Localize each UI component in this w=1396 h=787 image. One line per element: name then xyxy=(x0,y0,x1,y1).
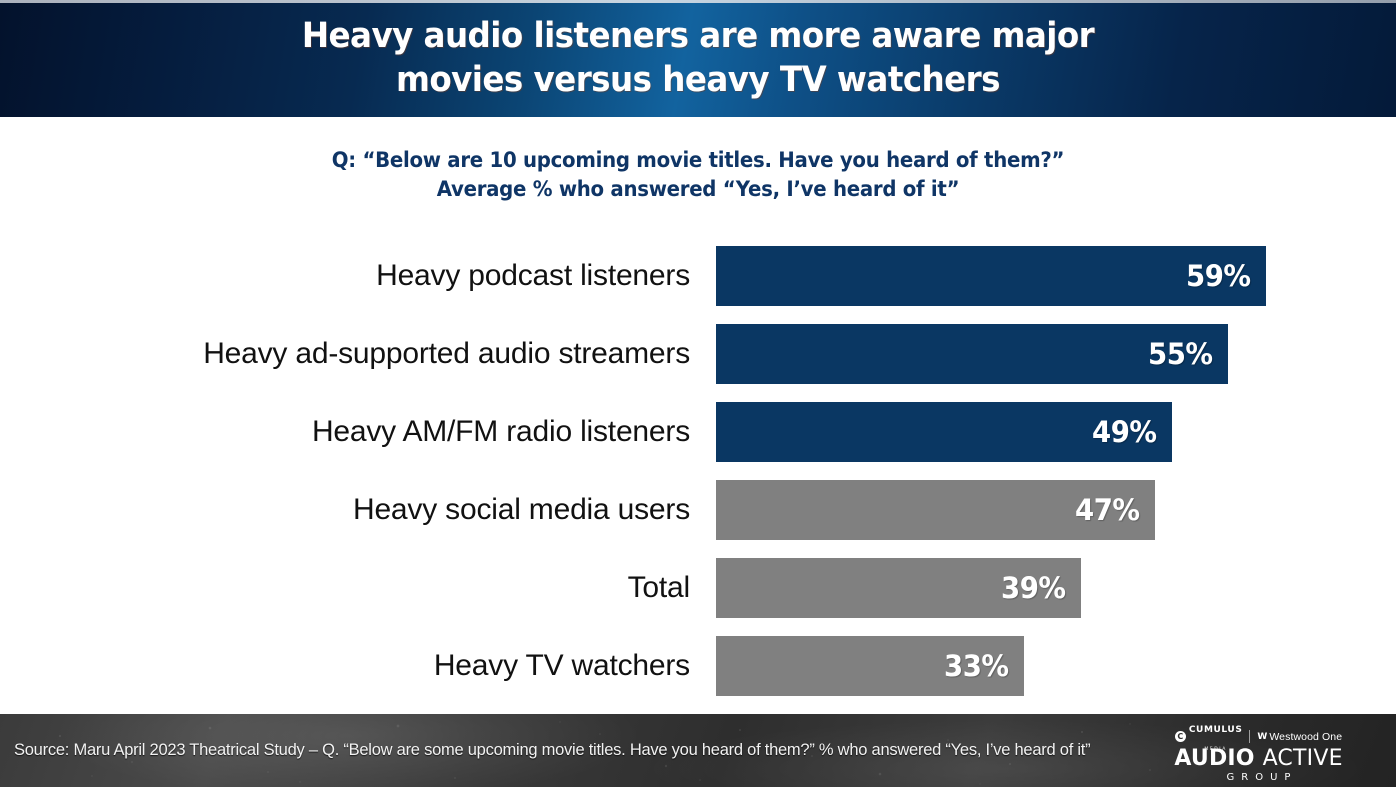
westwood-w-icon: W xyxy=(1257,732,1265,742)
bar-0: 59% xyxy=(716,246,1266,306)
bar-5: 33% xyxy=(716,636,1024,696)
group-word: GROUP xyxy=(1151,771,1366,784)
chart-row-1: Heavy ad-supported audio streamers 55% xyxy=(0,324,1396,384)
logo-top-row: C CUMULUS MEDIA W Westwood One xyxy=(1151,730,1366,743)
bar-3: 47% xyxy=(716,480,1155,540)
westwood-wordmark: Westwood One xyxy=(1269,731,1342,743)
bar-1: 55% xyxy=(716,324,1228,384)
cumulus-subname: MEDIA xyxy=(1204,747,1227,752)
bar-value-label-3: 47% xyxy=(1075,493,1153,527)
chart-row-2: Heavy AM/FM radio listeners 49% xyxy=(0,402,1396,462)
bar-category-label-1: Heavy ad-supported audio streamers xyxy=(150,324,690,384)
source-note: Source: Maru April 2023 Theatrical Study… xyxy=(14,714,1090,787)
bar-category-label-0: Heavy podcast listeners xyxy=(150,246,690,306)
bar-category-label-2: Heavy AM/FM radio listeners xyxy=(150,402,690,462)
bar-category-label-5: Heavy TV watchers xyxy=(150,636,690,696)
bar-4: 39% xyxy=(716,558,1081,618)
bar-chart: Heavy podcast listeners 59% Heavy ad-sup… xyxy=(0,240,1396,710)
slide-header: Heavy audio listeners are more aware maj… xyxy=(0,0,1396,117)
chart-row-3: Heavy social media users 47% xyxy=(0,480,1396,540)
bar-value-label-0: 59% xyxy=(1186,259,1264,293)
chart-row-0: Heavy podcast listeners 59% xyxy=(0,246,1396,306)
bar-category-label-4: Total xyxy=(150,558,690,618)
bar-value-label-5: 33% xyxy=(944,649,1022,683)
chart-question-subtitle: Q: “Below are 10 upcoming movie titles. … xyxy=(42,146,1354,204)
audio-active-wordmark: AUDIO ACTIVE xyxy=(1151,746,1366,771)
cumulus-name: CUMULUS xyxy=(1189,725,1243,735)
bar-value-label-1: 55% xyxy=(1148,337,1226,371)
brand-logo: C CUMULUS MEDIA W Westwood One AUDIO ACT… xyxy=(1151,730,1366,784)
chart-row-4: Total 39% xyxy=(0,558,1396,618)
cumulus-circle-icon: C xyxy=(1175,731,1186,742)
header-top-strip xyxy=(0,0,1396,3)
slide: Heavy audio listeners are more aware maj… xyxy=(0,0,1396,787)
slide-footer: Source: Maru April 2023 Theatrical Study… xyxy=(0,714,1396,787)
bar-2: 49% xyxy=(716,402,1172,462)
bar-value-label-2: 49% xyxy=(1092,415,1170,449)
active-word: ACTIVE xyxy=(1263,746,1343,771)
westwood-one-logo: W Westwood One xyxy=(1257,731,1342,743)
chart-row-5: Heavy TV watchers 33% xyxy=(0,636,1396,696)
logo-divider xyxy=(1249,730,1250,743)
bar-category-label-3: Heavy social media users xyxy=(150,480,690,540)
page-title: Heavy audio listeners are more aware maj… xyxy=(49,14,1347,102)
bar-value-label-4: 39% xyxy=(1001,571,1079,605)
